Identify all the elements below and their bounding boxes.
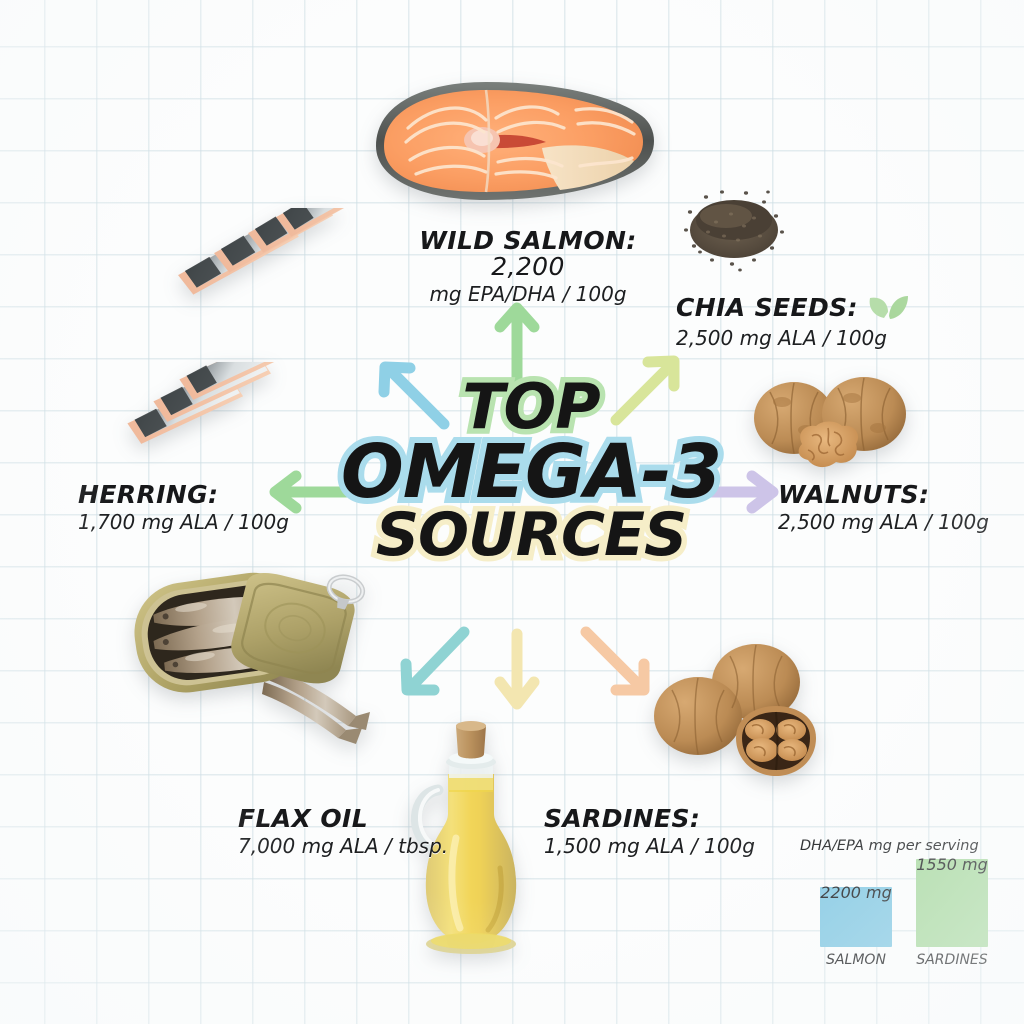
arrow-up-salmon [494, 296, 540, 389]
dha-epa-bar-chart: DHA/EPA mg per serving 2200 mg SALMON 15… [796, 838, 994, 1000]
chia-seeds-name: CHIA SEEDS: [676, 295, 858, 321]
arrow-right-walnuts [696, 470, 782, 519]
flax-oil-name: FLAX OIL [238, 806, 448, 832]
walnuts-photo-top [748, 372, 914, 478]
arrow-up-right-chia [606, 352, 686, 433]
chia-seeds-value: 2,500 mg ALA / 100g [676, 327, 908, 351]
label-flax-oil: FLAX OIL 7,000 mg ALA / tbsp. [238, 806, 448, 859]
walnuts-photo-bottom [652, 634, 824, 794]
wild-salmon-name: WILD SALMON: 2,200 [398, 228, 658, 280]
title-line-sources: SOURCES [336, 508, 726, 564]
herring-photo-upper [168, 208, 380, 336]
label-walnuts: WALNUTS: 2,500 mg ALA / 100g [778, 482, 989, 535]
chart-title: DHA/EPA mg per serving [800, 838, 979, 854]
wild-salmon-photo [346, 62, 666, 222]
flax-oil-value: 7,000 mg ALA / tbsp. [238, 835, 448, 859]
arrow-down-right-walnuts [576, 624, 656, 709]
label-chia-seeds: CHIA SEEDS: 2,500 mg ALA / 100g [676, 292, 908, 351]
chia-seeds-photo [676, 180, 794, 276]
bar-group-sardines: 1550 mg SARDINES [916, 859, 988, 968]
walnuts-name: WALNUTS: [778, 482, 989, 508]
arrow-down-sardines [494, 628, 540, 717]
bar-label-sardines: SARDINES [916, 952, 988, 968]
title-line-omega: OMEGA-3 [336, 438, 726, 507]
leaf-icon [864, 292, 908, 324]
wild-salmon-amount: 2,200 [491, 252, 565, 281]
label-wild-salmon: WILD SALMON: 2,200 mg EPA/DHA / 100g [398, 228, 658, 307]
label-sardines: SARDINES: 1,500 mg ALA / 100g [544, 806, 755, 859]
infographic-poster: TOP OMEGA-3 SOURCES WILD SALMON: 2,200 m… [0, 0, 1024, 1024]
arrow-down-left-flax [396, 624, 474, 707]
bar-value-salmon: 2200 mg [820, 883, 892, 902]
sardines-name: SARDINES: [544, 806, 755, 832]
walnuts-value: 2,500 mg ALA / 100g [778, 511, 989, 535]
sardines-value: 1,500 mg ALA / 100g [544, 835, 755, 859]
bar-group-salmon: 2200 mg SALMON [820, 887, 892, 968]
herring-name: HERRING: [78, 482, 289, 508]
wild-salmon-unit: mg EPA/DHA / 100g [398, 283, 658, 307]
herring-value: 1,700 mg ALA / 100g [78, 511, 289, 535]
arrow-up-left-herring [374, 358, 452, 435]
sardines-can-photo [120, 548, 378, 744]
bar-label-salmon: SALMON [820, 952, 892, 968]
label-herring: HERRING: 1,700 mg ALA / 100g [78, 482, 289, 535]
chart-plot: 2200 mg SALMON 1550 mg SARDINES [796, 864, 994, 968]
bar-value-sardines: 1550 mg [916, 855, 988, 874]
herring-photo-lower [122, 362, 318, 474]
